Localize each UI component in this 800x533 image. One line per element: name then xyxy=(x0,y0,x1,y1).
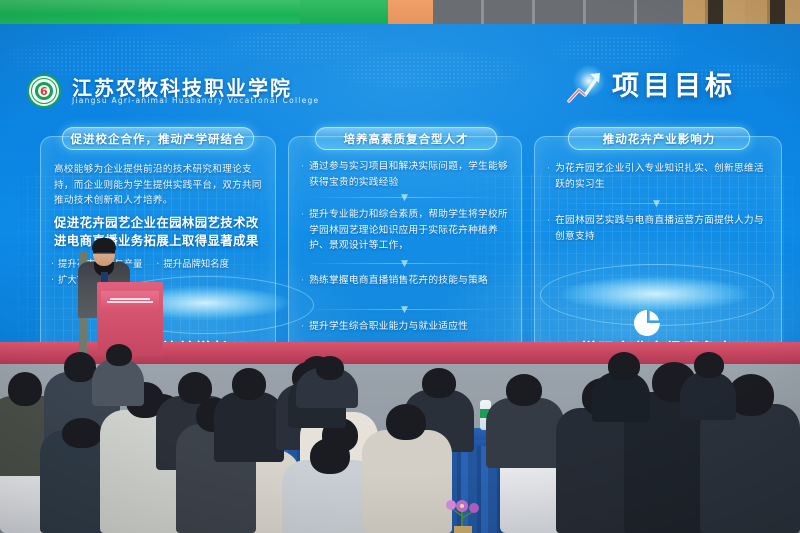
podium-banner xyxy=(101,291,159,310)
attendee-body xyxy=(700,404,800,533)
list-item: · 通过参与实习项目和解决实际问题，学生能够获得宝贵的实践经验 xyxy=(301,159,515,190)
speaker-hair xyxy=(92,238,116,253)
list-item: · 提升学生综合职业能力与就业适应性 xyxy=(301,319,515,335)
bullet-dot-icon: · xyxy=(301,207,304,254)
green-wall-panel-2 xyxy=(300,0,388,24)
bullet-dot-icon: · xyxy=(547,213,550,244)
bullet-dot-icon: · xyxy=(301,159,304,190)
conference-photo: 6 江苏农牧科技职业学院 Jiangsu Agri-animal Husband… xyxy=(0,0,800,533)
column-2-heading-text: 培养高素质复合型人才 xyxy=(344,131,469,147)
chevron-down-icon: ▼ xyxy=(401,260,408,269)
page-title-text: 项目目标 xyxy=(612,64,736,103)
flower-arrangement xyxy=(442,486,486,533)
attendee-head xyxy=(232,368,266,400)
column-1-heading: 促进校企合作，推动产学研结合 xyxy=(62,127,254,150)
attendee-head xyxy=(64,352,96,382)
column-3-bullet-1: 为花卉园艺企业引入专业知识扎实、创新思维活跃的实习生 xyxy=(555,161,769,192)
list-item: · 为花卉园艺企业引入专业知识扎实、创新思维活跃的实习生 xyxy=(547,161,769,192)
column-2-bullet-1: 通过参与实习项目和解决实际问题，学生能够获得宝贵的实践经验 xyxy=(309,159,515,190)
attendee-head xyxy=(506,374,542,406)
column-3-heading-text: 推动花卉产业影响力 xyxy=(603,131,716,147)
list-item: · 熟练掌握电商直播销售花卉的技能与策略 xyxy=(301,273,515,289)
bullet-dot-icon: · xyxy=(301,319,304,335)
bullet-dot-icon: · xyxy=(547,161,550,192)
window-glass xyxy=(433,0,683,24)
column-1-heading-text: 促进校企合作，推动产学研结合 xyxy=(71,131,246,147)
attendee-body xyxy=(362,430,452,533)
chevron-down-icon: ▼ xyxy=(653,200,660,209)
attendee-head xyxy=(694,352,724,378)
rising-arrow-icon xyxy=(566,68,608,106)
bullet-dot-icon: · xyxy=(301,273,304,289)
attendee-head xyxy=(422,368,456,398)
school-emblem-icon: 6 xyxy=(27,74,61,108)
list-item: · 在园林园艺实践与电商直播运营方面提供人力与创意支持 xyxy=(547,213,769,244)
room-background xyxy=(0,0,800,24)
column-1-highlight: 促进花卉园艺企业在园林园艺技术改进电商直播业务拓展上取得显著成果 xyxy=(54,214,268,250)
attendee-head xyxy=(386,404,426,440)
column-3-bullet-2: 在园林园艺实践与电商直播运营方面提供人力与创意支持 xyxy=(555,213,769,244)
speaker-glasses-icon xyxy=(96,252,112,257)
attendee-body xyxy=(680,372,736,420)
attendee-body xyxy=(214,392,284,462)
wood-panel xyxy=(683,0,800,24)
attendee-head xyxy=(8,372,42,406)
attendee-head xyxy=(316,356,344,380)
chevron-down-icon: ▼ xyxy=(401,194,408,203)
attendee-body xyxy=(486,398,564,468)
column-2-heading: 培养高素质复合型人才 xyxy=(315,127,497,150)
column-1-paragraph: 高校能够为企业提供前沿的技术研究和理论支持，而企业则能为学生提供实践平台，双方共… xyxy=(54,162,262,209)
pie-chart-icon xyxy=(632,308,662,338)
attendee-head xyxy=(62,418,102,448)
column-2-bullet-3: 熟练掌握电商直播销售花卉的技能与策略 xyxy=(309,273,488,289)
orange-panel xyxy=(388,0,433,24)
attendee-head xyxy=(106,344,132,366)
page-title: 项目目标 xyxy=(566,64,786,108)
school-name-en: Jiangsu Agri-animal Husbandry Vocational… xyxy=(72,96,319,105)
green-wall-panel xyxy=(0,0,300,24)
attendee-head xyxy=(608,352,640,380)
list-item: · 提升专业能力和综合素质，帮助学生将学校所学园林园艺理论知识应用于实际花卉种植… xyxy=(301,207,515,254)
goal-column-2: 培养高素质复合型人才 · 通过参与实习项目和解决实际问题，学生能够获得宝贵的实践… xyxy=(288,136,522,356)
sub-bullet-2: 提升品牌知名度 xyxy=(163,259,229,270)
column-2-bullet-4: 提升学生综合职业能力与就业适应性 xyxy=(309,319,468,335)
chevron-down-icon: ▼ xyxy=(401,306,408,315)
column-3-heading: 推动花卉产业影响力 xyxy=(568,127,750,150)
column-2-bullet-2: 提升专业能力和综合素质，帮助学生将学校所学园林园艺理论知识应用于实际花卉种植养护… xyxy=(309,207,515,254)
attendee-head xyxy=(310,438,350,474)
